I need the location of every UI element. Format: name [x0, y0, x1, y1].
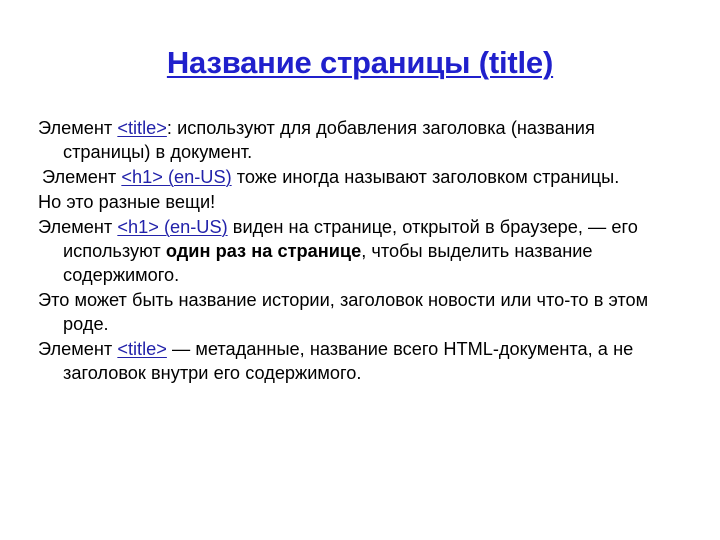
paragraph-4: Элемент <h1> (en-US) виден на странице, …	[38, 215, 686, 287]
paragraph-3: Но это разные вещи!	[38, 190, 686, 214]
paragraph-1-lead-text: Элемент	[38, 118, 117, 138]
title-element-link[interactable]: <title>	[117, 118, 167, 138]
title-element-link[interactable]: <title>	[117, 339, 167, 359]
page-title: Название страницы (title)	[167, 44, 553, 82]
slide-body: Элемент <title>: используют для добавлен…	[38, 116, 686, 386]
paragraph-2: Элемент <h1> (en-US) тоже иногда называю…	[38, 165, 686, 189]
paragraph-6: Элемент <title> — метаданные, название в…	[38, 337, 686, 385]
slide-canvas: Название страницы (title) Элемент <title…	[0, 0, 720, 540]
paragraph-4-emphasis: один раз на странице	[166, 241, 361, 261]
paragraph-3-text: Но это разные вещи!	[38, 192, 215, 212]
h1-element-link[interactable]: <h1> (en-US)	[121, 167, 231, 187]
h1-element-link[interactable]: <h1> (en-US)	[117, 217, 227, 237]
paragraph-5: Это может быть название истории, заголов…	[38, 288, 686, 336]
paragraph-6-lead-text: Элемент	[38, 339, 117, 359]
paragraph-2-lead-text: Элемент	[42, 167, 121, 187]
paragraph-4-lead-text: Элемент	[38, 217, 117, 237]
paragraph-1: Элемент <title>: используют для добавлен…	[38, 116, 686, 164]
paragraph-2-tail-text: тоже иногда называют заголовком страницы…	[232, 167, 620, 187]
paragraph-5-text: Это может быть название истории, заголов…	[38, 290, 648, 334]
slide-title-block: Название страницы (title)	[0, 44, 720, 82]
